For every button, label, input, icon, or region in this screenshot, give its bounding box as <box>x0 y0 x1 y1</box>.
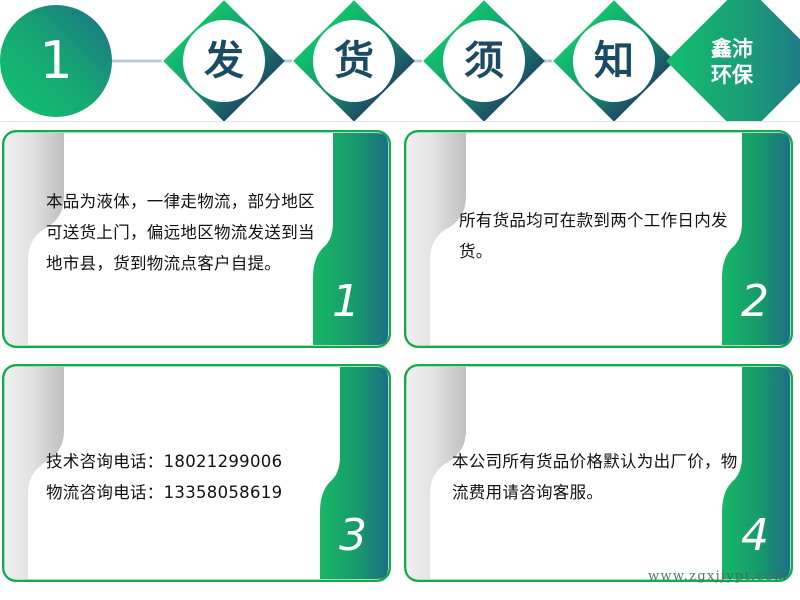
step-diamond-2 <box>293 0 415 122</box>
card-4-graphics <box>404 364 793 582</box>
step-diamond-1 <box>163 0 285 122</box>
info-card-3: 技术咨询电话：18021299006 物流咨询电话：13358058619 3 <box>2 364 391 582</box>
info-card-2: 所有货品均可在款到两个工作日内发货。 2 <box>404 130 793 348</box>
card-2-graphics <box>404 130 793 348</box>
card-1-graphics <box>2 130 391 348</box>
info-card-grid: 本品为液体，一律走物流，部分地区可送货上门，偏远地区物流发送到当地市县，货到物流… <box>0 130 800 600</box>
step-diamond-3 <box>423 0 545 122</box>
card-3-graphics <box>2 364 391 582</box>
brand-logo-diamond <box>666 0 800 122</box>
header-divider <box>0 121 800 122</box>
info-card-4: 本公司所有货品价格默认为出厂价，物流费用请咨询客服。 4 <box>404 364 793 582</box>
header-badge-circle <box>0 5 112 117</box>
header-graphics <box>0 0 800 122</box>
step-diamond-4 <box>553 0 675 122</box>
info-card-1: 本品为液体，一律走物流，部分地区可送货上门，偏远地区物流发送到当地市县，货到物流… <box>2 130 391 348</box>
header-banner: 1 发 货 须 知 鑫沛 环保 <box>0 0 800 122</box>
